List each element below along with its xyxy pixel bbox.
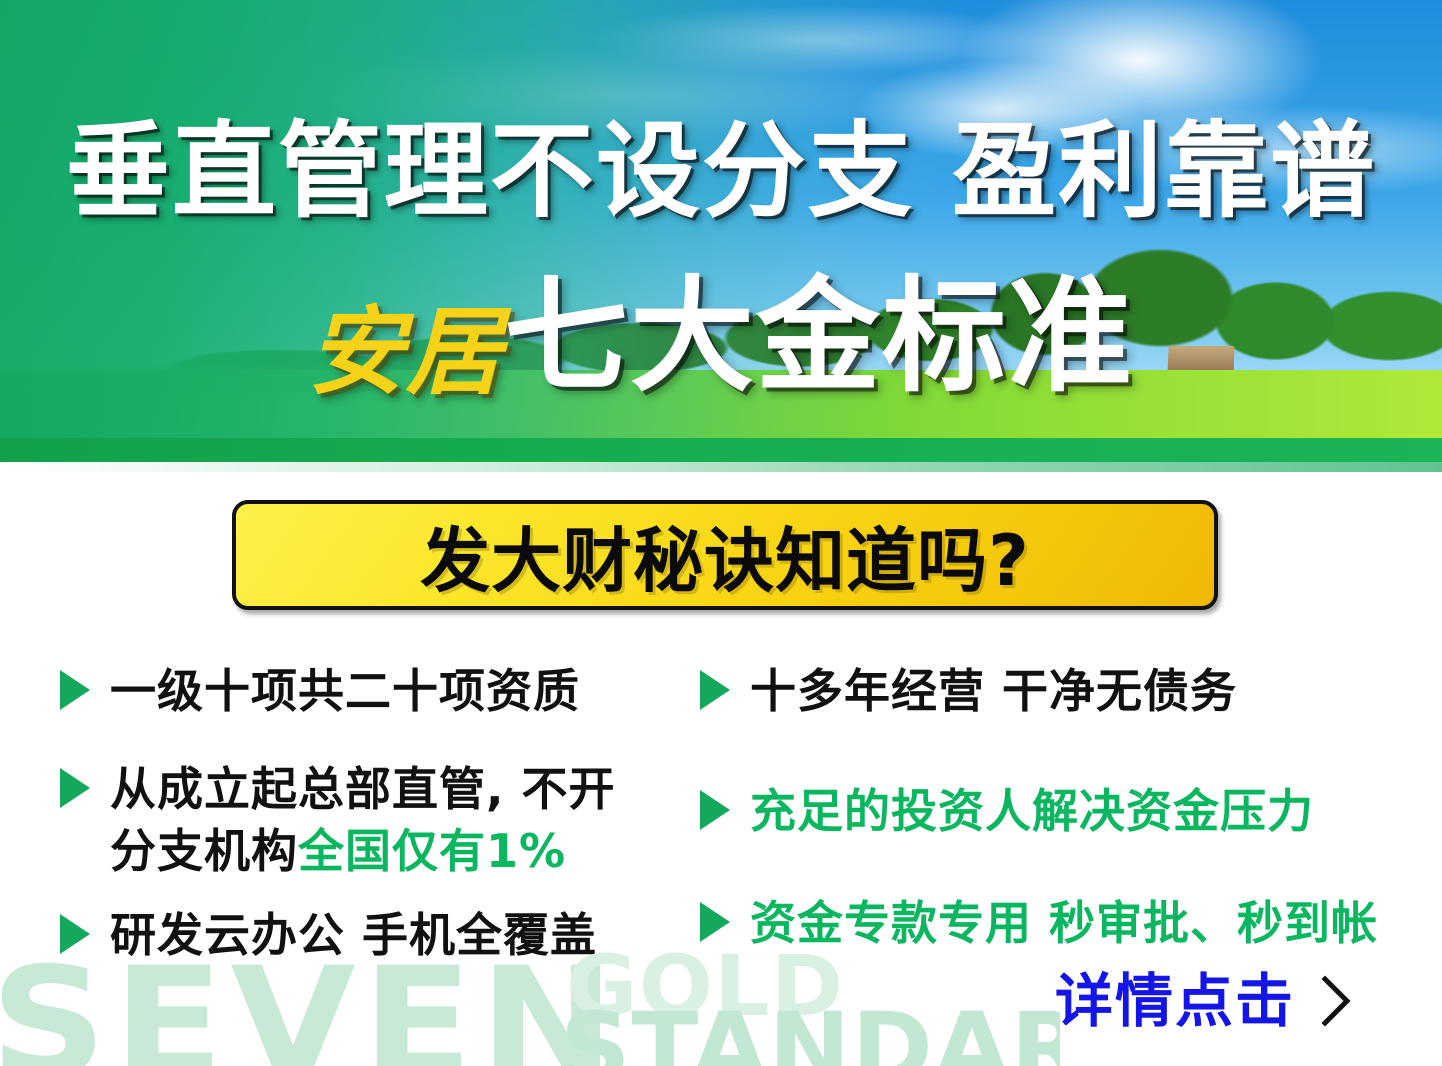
features-left-column: 一级十项共二十项资质 从成立起总部直管, 不开 分支机构全国仅有1% 研发云办公… (60, 660, 700, 992)
feature-text: 十多年经营 干净无债务 (750, 660, 1237, 722)
feature-text: 充足的投资人解决资金压力 (750, 780, 1314, 842)
list-item: 研发云办公 手机全覆盖 (60, 904, 700, 966)
hero-headline-brand: 安居 (308, 296, 504, 408)
hero-headline-slogan: 七大金标准 (504, 265, 1134, 409)
feature-text: 研发云办公 手机全覆盖 (110, 904, 597, 966)
triangle-right-icon (60, 670, 90, 710)
triangle-right-icon (60, 914, 90, 954)
feature-text-highlight: 全国仅有1% (298, 824, 566, 878)
question-banner[interactable]: 发大财秘诀知道吗? (232, 500, 1218, 610)
list-item: 一级十项共二十项资质 (60, 660, 700, 722)
triangle-right-icon (700, 790, 730, 830)
advertisement-banner: 垂直管理不设分支 盈利靠谱 安居七大金标准 发大财秘诀知道吗? 一级十项共二十项… (0, 0, 1442, 1066)
triangle-right-icon (700, 670, 730, 710)
question-banner-text: 发大财秘诀知道吗? (420, 505, 1030, 606)
hero-divider-strip (0, 462, 1442, 472)
details-link-label: 详情点击 (1055, 968, 1295, 1034)
triangle-right-icon (60, 768, 90, 808)
feature-text: 资金专款专用 秒审批、秒到帐 (750, 892, 1378, 954)
triangle-right-icon (700, 902, 730, 942)
hero-headline-primary: 垂直管理不设分支 盈利靠谱 (0, 112, 1442, 230)
list-item: 资金专款专用 秒审批、秒到帐 (700, 892, 1420, 954)
hero-bottom-green-bar (0, 438, 1442, 462)
list-item: 充足的投资人解决资金压力 (700, 780, 1420, 842)
feature-text: 一级十项共二十项资质 (110, 660, 580, 722)
watermark-standards: STANDARDS (560, 1000, 1060, 1066)
hero-headline-secondary: 安居七大金标准 (0, 272, 1442, 439)
details-link[interactable]: 详情点击 (1055, 968, 1351, 1034)
feature-text: 从成立起总部直管, 不开 分支机构全国仅有1% (110, 758, 616, 882)
chevron-right-icon (1321, 975, 1351, 1027)
list-item: 十多年经营 干净无债务 (700, 660, 1420, 722)
features-section: 一级十项共二十项资质 从成立起总部直管, 不开 分支机构全国仅有1% 研发云办公… (0, 660, 1442, 990)
list-item: 从成立起总部直管, 不开 分支机构全国仅有1% (60, 758, 700, 882)
features-right-column: 十多年经营 干净无债务 充足的投资人解决资金压力 资金专款专用 秒审批、秒到帐 (700, 660, 1420, 980)
